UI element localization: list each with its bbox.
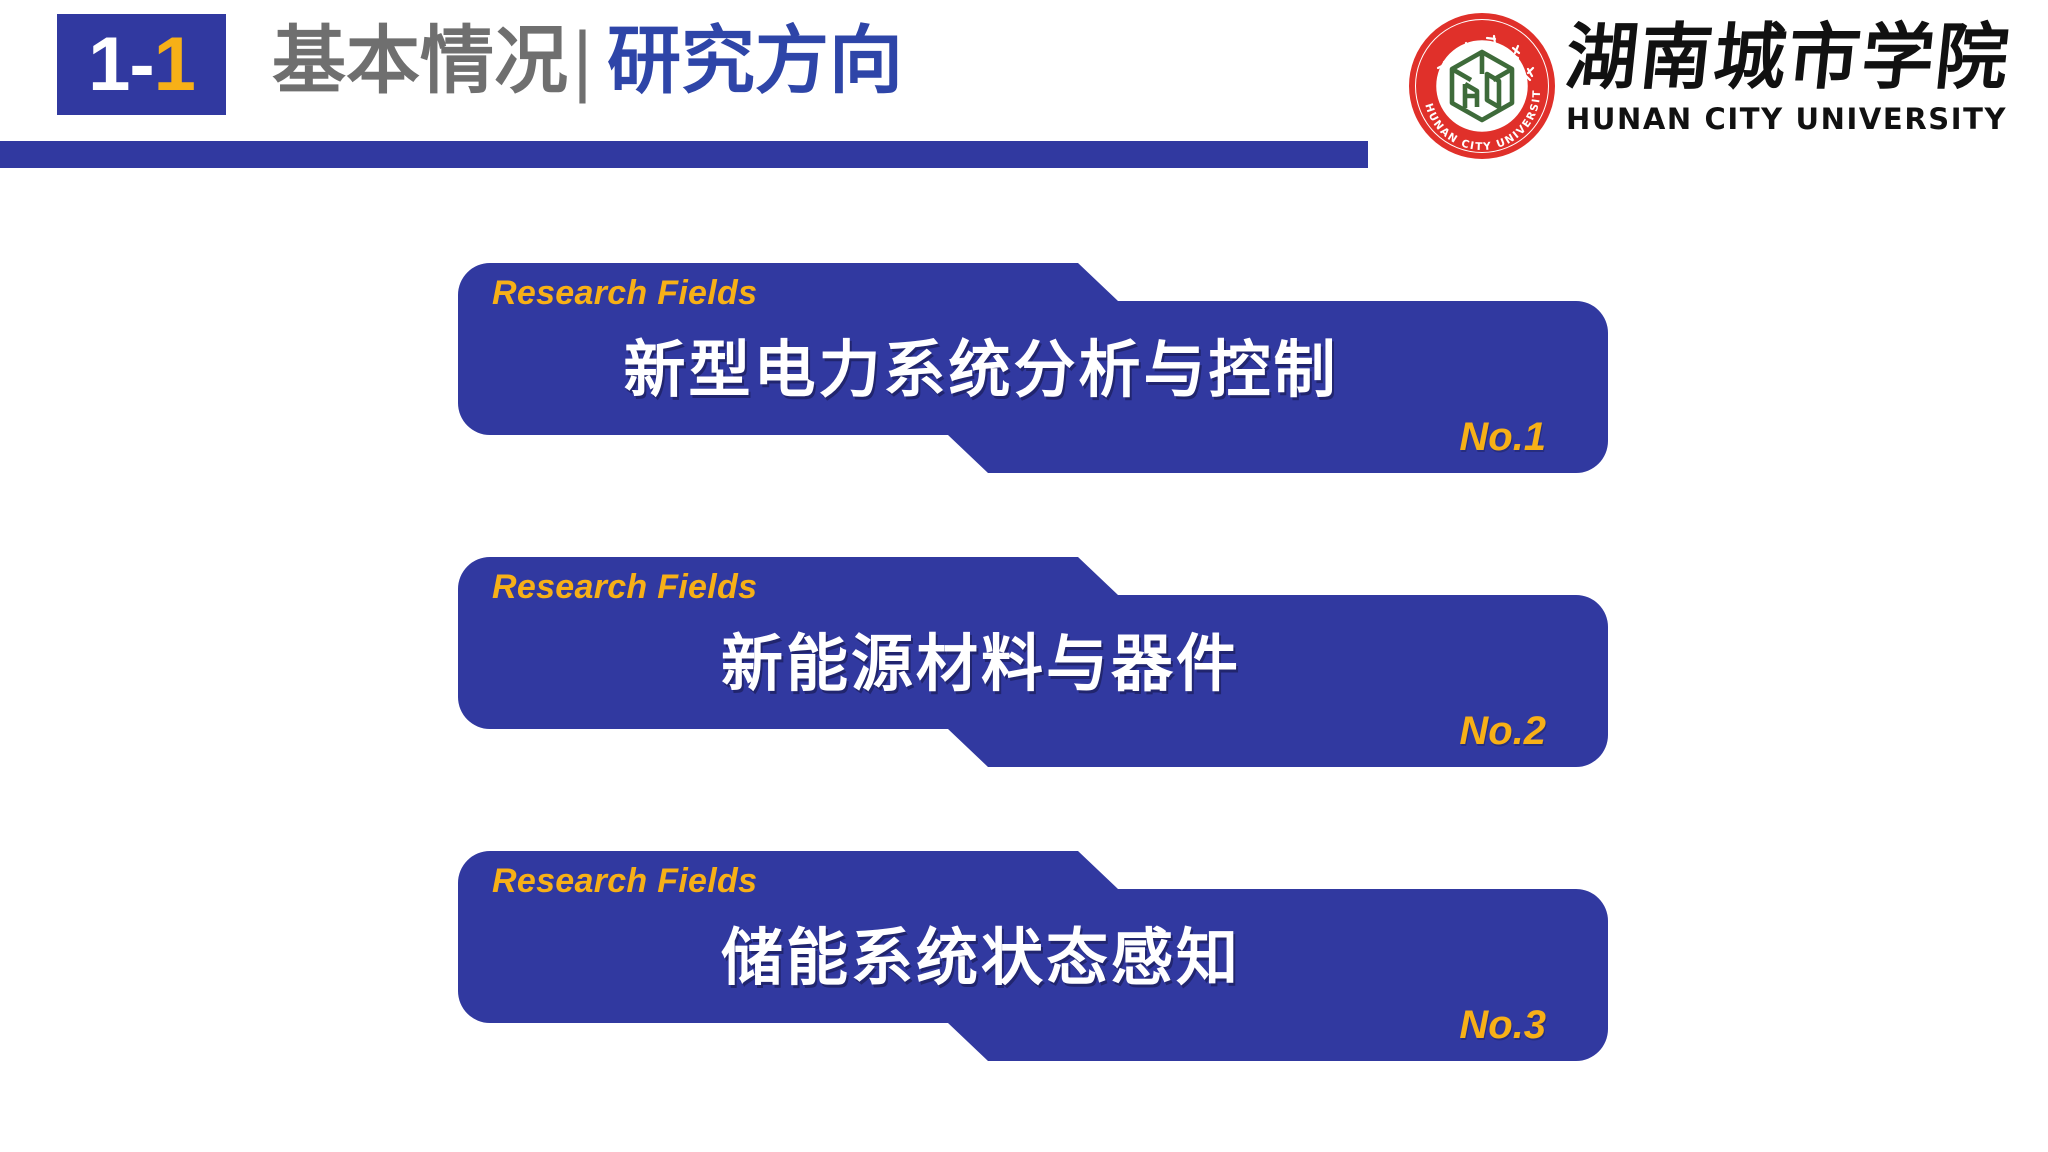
- card-title: 新能源材料与器件: [458, 627, 1504, 701]
- research-field-card[interactable]: Research Fields 新型电力系统分析与控制 No.1: [458, 263, 1608, 473]
- card-index-label: No.2: [1459, 709, 1546, 754]
- slide-canvas: 1 - 1 基本情况 | 研究方向: [0, 0, 2048, 1152]
- card-index-label: No.3: [1459, 1003, 1546, 1048]
- research-field-card[interactable]: Research Fields 新能源材料与器件 No.2: [458, 557, 1608, 767]
- card-kicker: Research Fields: [492, 568, 757, 607]
- card-index-label: No.1: [1459, 415, 1546, 460]
- card-kicker: Research Fields: [492, 274, 757, 313]
- card-kicker: Research Fields: [492, 862, 757, 901]
- research-fields-list: Research Fields 新型电力系统分析与控制 No.1 Researc…: [0, 0, 2048, 1152]
- research-field-card[interactable]: Research Fields 储能系统状态感知 No.3: [458, 851, 1608, 1061]
- card-title: 储能系统状态感知: [458, 921, 1504, 995]
- card-title: 新型电力系统分析与控制: [458, 333, 1504, 407]
